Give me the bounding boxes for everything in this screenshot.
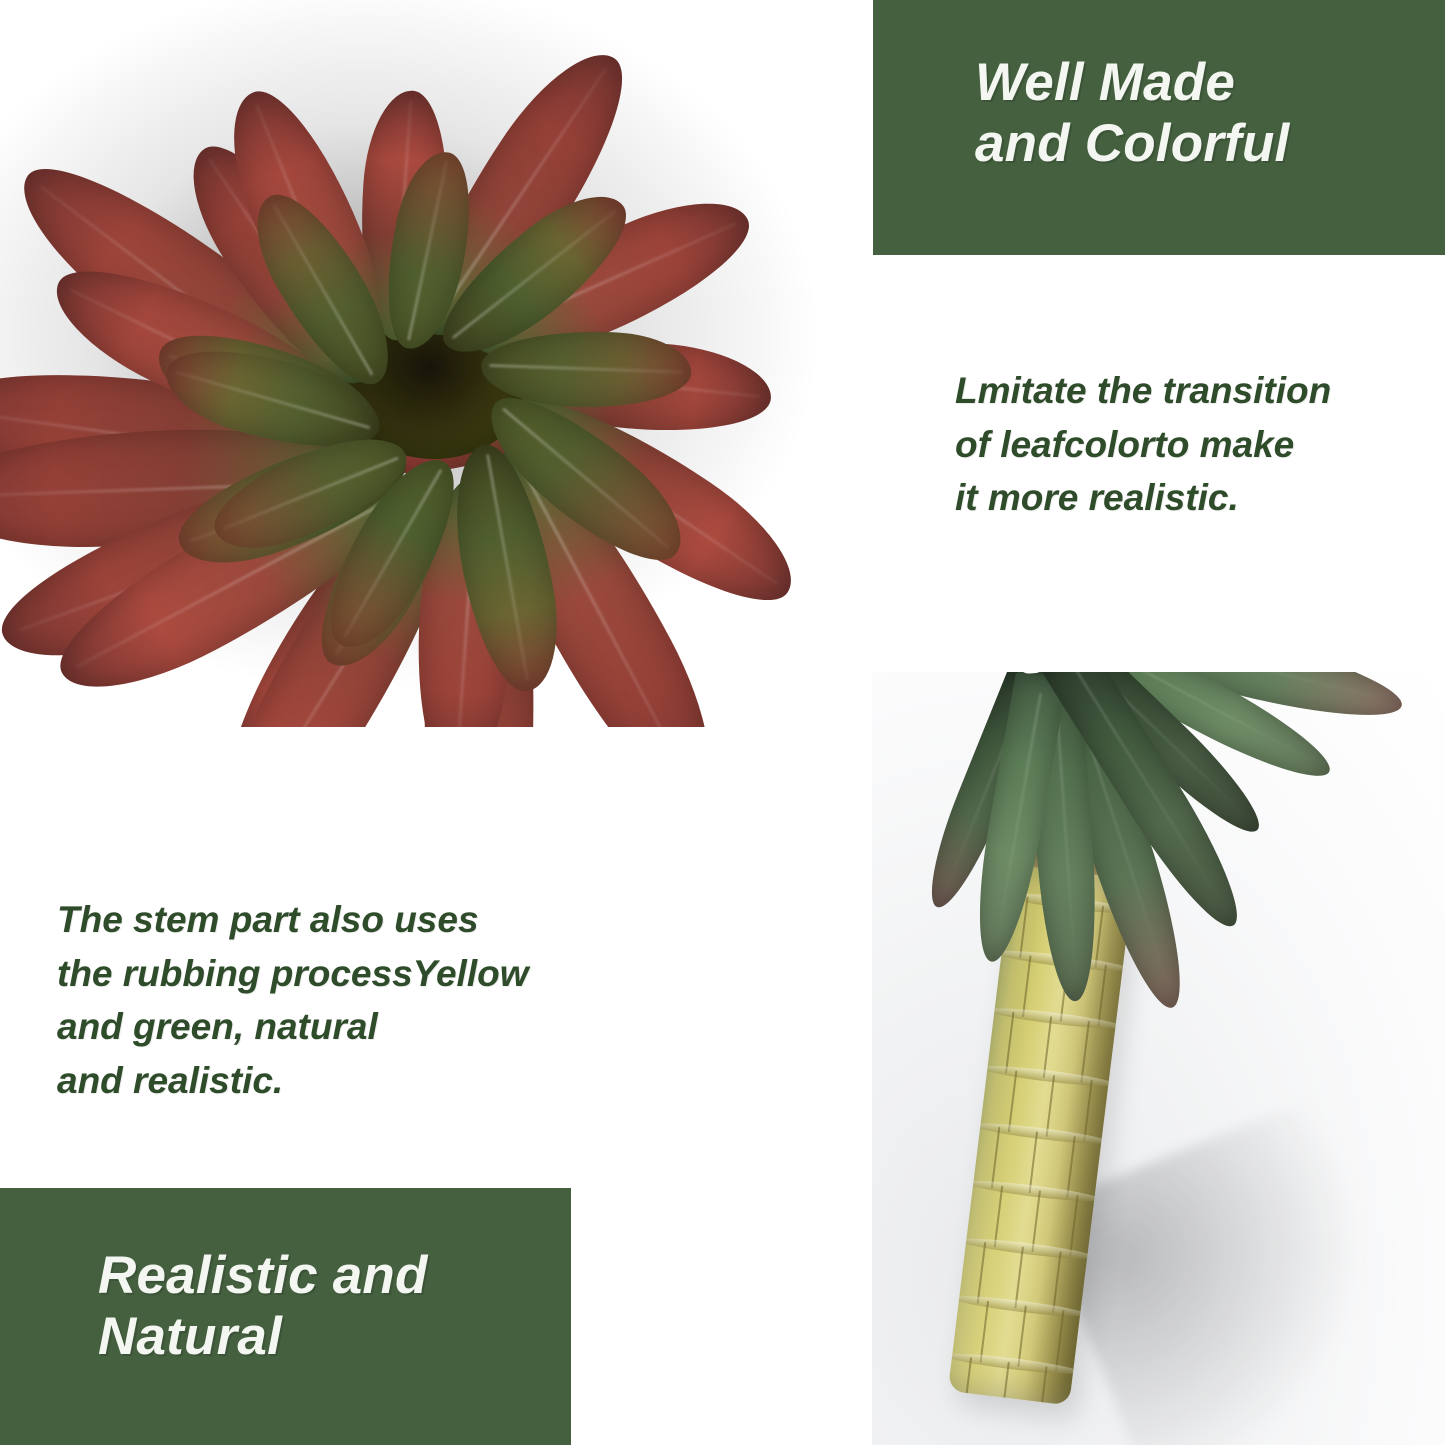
stem-segment-seam [1005,1012,1015,1074]
stem-segment-seam [994,1186,1004,1248]
stem-segment-seam [1031,1190,1041,1252]
stem-segment-seam [1080,1021,1090,1083]
stem-segment-band [958,1235,1095,1263]
stem-segment-seam [977,1242,987,1304]
body-text-imitate-transition: Lmitate the transition of leafcolorto ma… [955,364,1331,525]
stem-segment-seam [963,1357,973,1405]
stem-segment-band [972,1120,1109,1148]
heading-realistic-and-natural: Realistic and Natural [98,1245,428,1368]
stem-segment-seam [1052,1251,1062,1313]
stem-segment-seam [1022,955,1032,1017]
stem-segment-seam [1014,1247,1024,1309]
stem-segment-seam [991,1127,1001,1189]
stem-segment-band [979,1062,1116,1090]
stem-segment-seam [1097,965,1107,1027]
stem-segment-seam [1083,1080,1093,1142]
stem-segment-seam [1008,1070,1018,1132]
stem-segment-band [965,1177,1102,1205]
stem-segment-seam [1043,1016,1053,1078]
heading-well-made-and-colorful: Well Made and Colorful [975,52,1289,175]
stem-segment-seam [980,1301,990,1363]
stem-segment-seam [1066,1136,1076,1198]
stem-segment-band [951,1292,1088,1320]
infographic-canvas: Well Made and Colorful Lmitate the trans… [0,0,1445,1445]
stem-segment-seam [1046,1075,1056,1137]
stem-segment-seam [1055,1310,1065,1372]
body-text-stem-rubbing-process: The stem part also uses the rubbing proc… [57,893,528,1108]
stem-segment-seam [1095,906,1105,968]
photo-stem [872,672,1445,1445]
photo-rosette [0,0,867,727]
stem-segment-seam [1017,1305,1027,1367]
stem-segment-seam [1069,1195,1079,1257]
stem-segment-seam [1029,1131,1039,1193]
stem-segment-band [987,1005,1124,1033]
